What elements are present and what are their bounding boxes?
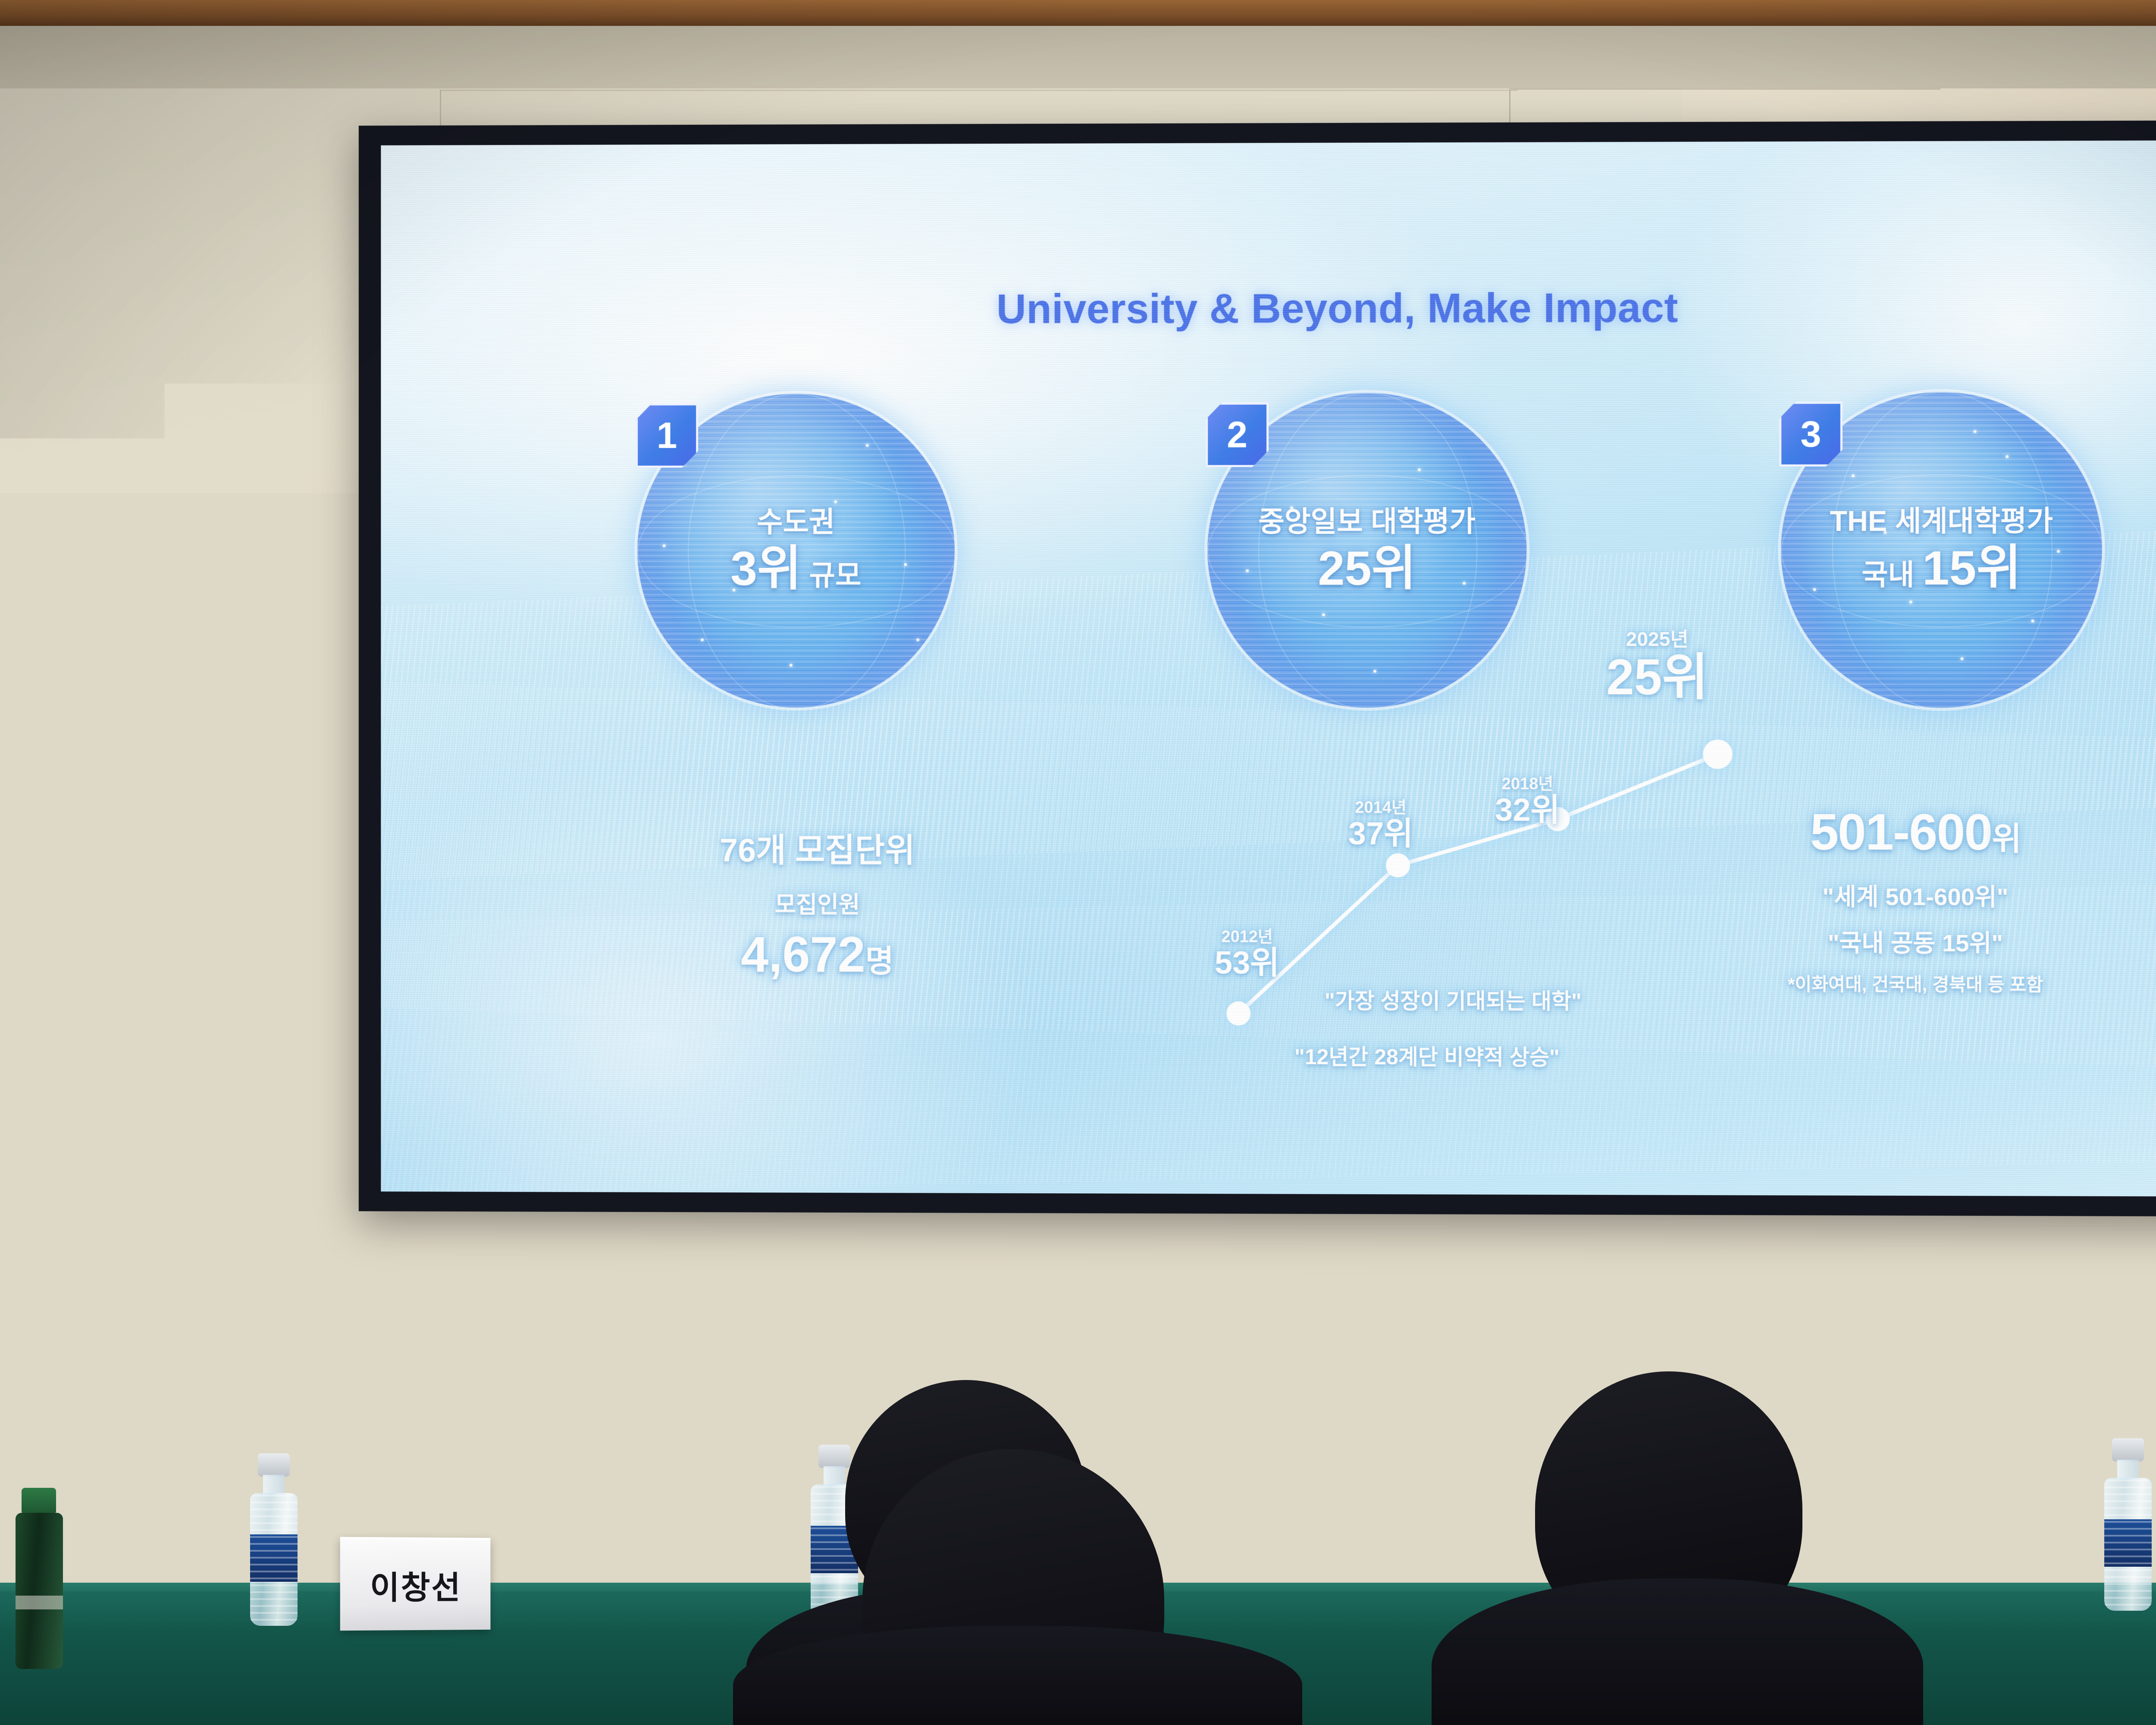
speaker-nose <box>261 839 278 861</box>
bottle-neck <box>824 1466 845 1486</box>
speaker-eye-left <box>216 820 244 830</box>
rose-orange <box>1319 1496 1406 1578</box>
speaker-mouth <box>250 872 291 891</box>
stat-right-big: 501-600위 <box>1673 803 2156 862</box>
speaker-teeth <box>254 875 288 881</box>
stat-left-line2: 모집인원 <box>620 885 1015 920</box>
stat-left-line1: 76개 모집단위 <box>620 824 1015 872</box>
bottle-label-band <box>16 1596 63 1609</box>
chart-quote-2: "12년간 28계단 비약적 상승" <box>1294 1040 1560 1071</box>
highlight-circle-3[interactable]: 3 THE 세계대학평가 국내 15위 <box>1764 392 2119 708</box>
circle-badge-2: 2 <box>1206 402 1269 467</box>
bottle-cap <box>818 1445 850 1468</box>
bottle-body <box>16 1513 63 1669</box>
slide-title: University & Beyond, Make Impact <box>381 283 2156 334</box>
stat-left-number: 4,672 <box>741 926 865 982</box>
chart-point-rank-2: 32위 <box>1463 794 1592 826</box>
microphone-grille <box>285 1134 315 1173</box>
bud-red <box>1367 1462 1406 1499</box>
green-drink-bottle[interactable] <box>13 1488 65 1669</box>
speaker-hand-left <box>30 1026 138 1143</box>
room-scene: University & Beyond, Make Impact 1 수도권 <box>0 0 2156 1725</box>
stat-block-left: 76개 모집단위 모집인원 4,672명 <box>620 824 1015 984</box>
chart-point-label-0: 2012년 53위 <box>1182 923 1312 979</box>
ceiling-band <box>0 26 2156 91</box>
highlight-circles-row: 1 수도권 3위 규모 <box>620 392 2119 721</box>
chart-point-label-3: 2025년 25위 <box>1567 624 1748 702</box>
leaf <box>1424 1503 1503 1554</box>
stat-right-unit: 위 <box>1992 821 2021 856</box>
chart-point-label-1: 2014년 37위 <box>1316 794 1445 850</box>
chart-point-rank-0: 53위 <box>1182 947 1312 979</box>
stat-left-line3: 4,672명 <box>620 925 1015 984</box>
circle-badge-3: 3 <box>1779 401 1843 467</box>
stat-right-quote-2: "국내 공동 15위" <box>1673 923 2156 959</box>
bottle-cap <box>2112 1438 2144 1462</box>
chart-point-rank-3: 25위 <box>1567 652 1748 702</box>
bottle-cap <box>22 1488 56 1515</box>
circle-badge-1: 1 <box>636 403 698 468</box>
stat-right-quote-1: "세계 501-600위" <box>1673 877 2156 913</box>
speaker-presenter <box>99 686 487 1656</box>
chart-quote-1: "가장 성장이 기대되는 대학" <box>1325 984 1582 1015</box>
water-bottle-right[interactable] <box>2104 1438 2152 1611</box>
microphone-band <box>285 1230 314 1234</box>
wall-seam <box>440 90 1518 91</box>
microphone-band <box>285 1216 314 1220</box>
speaker-eye-right <box>284 819 312 828</box>
highlight-circle-2[interactable]: 2 중앙일보 대학평가 25위 <box>1190 392 1544 708</box>
chart-point-year-3: 2025년 <box>1567 624 1748 652</box>
chart-point-year-2: 2018년 <box>1463 770 1592 794</box>
ceiling-beam <box>0 0 2156 26</box>
slide-surface: University & Beyond, Make Impact 1 수도권 <box>381 140 2156 1197</box>
chart-dot-0 <box>1226 1001 1250 1026</box>
bottle-ribs <box>2104 1480 2152 1609</box>
speaker-hair-side-left <box>172 742 219 862</box>
stat-right-note: *이화여대, 건국대, 경북대 등 포함 <box>1673 969 2156 997</box>
stat-block-right: 501-600위 "세계 501-600위" "국내 공동 15위" *이화여대… <box>1673 803 2156 997</box>
highlight-circle-1[interactable]: 1 수도권 3위 규모 <box>620 393 971 708</box>
bottle-neck <box>2117 1460 2139 1480</box>
chart-dot-1 <box>1386 853 1410 878</box>
projection-screen[interactable]: University & Beyond, Make Impact 1 수도권 <box>359 120 2156 1217</box>
chart-point-label-2: 2018년 32위 <box>1463 770 1592 826</box>
chart-point-year-1: 2014년 <box>1316 794 1445 818</box>
chart-point-rank-1: 37위 <box>1316 818 1445 850</box>
chart-dot-3 <box>1703 740 1733 769</box>
stat-left-unit: 명 <box>865 944 894 979</box>
stat-right-number: 501-600 <box>1810 804 1992 861</box>
speaker-hair-side-right <box>314 737 366 867</box>
wall-seam <box>1509 88 1940 90</box>
chart-point-year-0: 2012년 <box>1182 923 1312 947</box>
